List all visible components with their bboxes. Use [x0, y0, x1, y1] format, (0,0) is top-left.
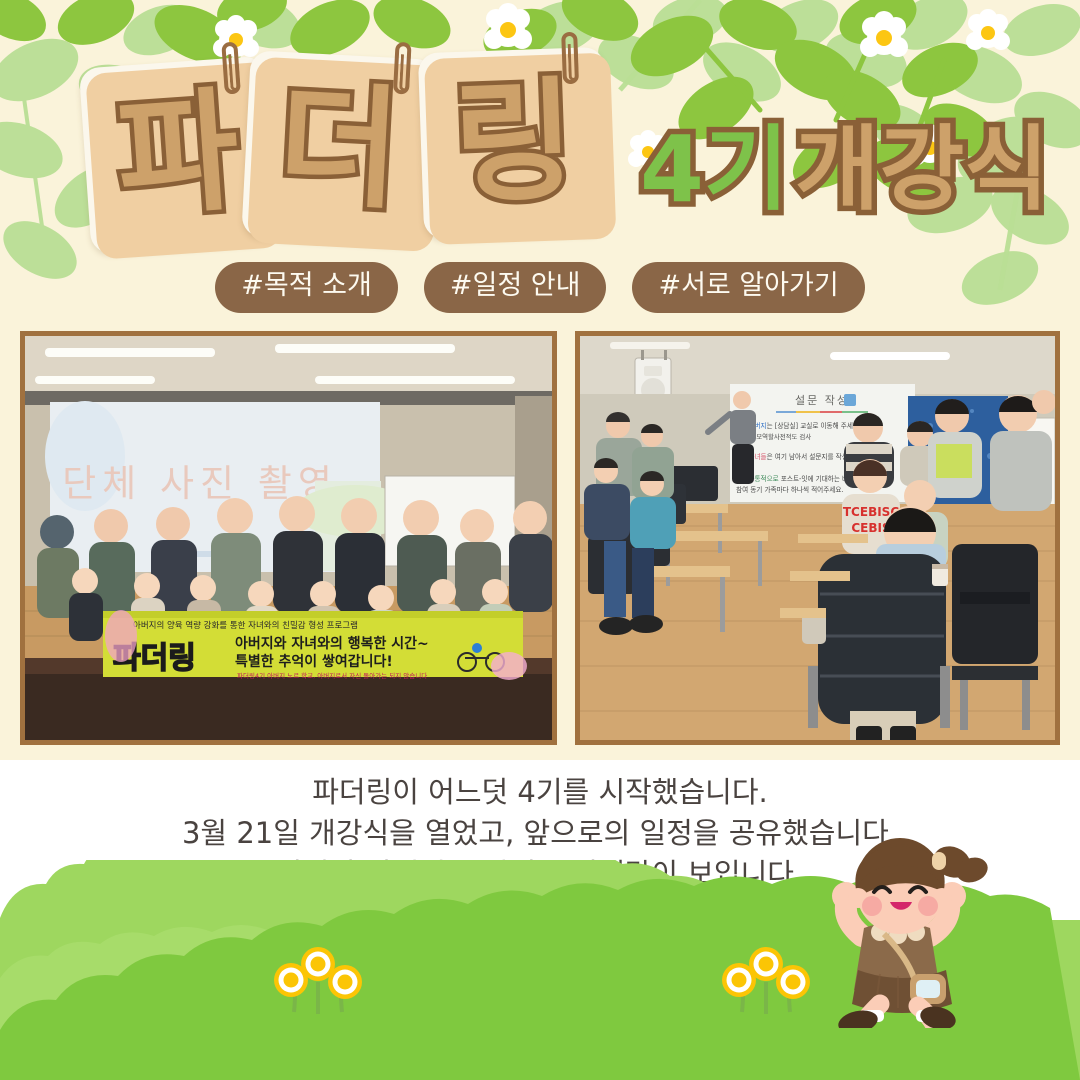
svg-text:1. 아버지는 [상담실] 교실로 이동해 주세요.: 1. 아버지는 [상담실] 교실로 이동해 주세요. — [740, 421, 861, 430]
svg-text:특별한 추억이 쌓여갑니다!: 특별한 추억이 쌓여갑니다! — [235, 653, 393, 670]
svg-text:파더링4기 아버지 노르 학교, 아버지로서 자신 돌아가는: 파더링4기 아버지 노르 학교, 아버지로서 자신 돌아가는 되지 않습니다 — [237, 671, 427, 680]
photo-group-ceremony[interactable]: 단체 사진 촬영 - 강당에서 현수막 앞 단체사진 단체 사진 촬영 — [20, 331, 557, 745]
hashtag-row: #목적 소개 #일정 안내 #서로 알아가기 — [0, 262, 1080, 313]
hashtag-pill-purpose[interactable]: #목적 소개 — [215, 262, 398, 313]
svg-text:참여 동기 가족마다 하나씩 적어주세요.: 참여 동기 가족마다 하나씩 적어주세요. — [736, 485, 844, 494]
svg-text:3. 공통적으로 포스트-잇에 기대하는 바나: 3. 공통적으로 포스트-잇에 기대하는 바나 — [740, 474, 854, 483]
cheering-girl-mascot — [806, 828, 996, 1028]
svg-text:아버지와 자녀와의 행복한 시간~: 아버지와 자녀와의 행복한 시간~ — [235, 635, 429, 652]
svg-text:설문 작성: 설문 작성 — [795, 394, 849, 407]
poster-canvas: 파 더 링 4기 개강식 #목적 소개 #일정 안내 #서로 알아가기 단체 사… — [0, 0, 1080, 1080]
title-event: 개강식 — [795, 124, 1049, 216]
title-card-deo: 더 — [241, 50, 436, 245]
hashtag-pill-getting-to-know[interactable]: #서로 알아가기 — [632, 262, 864, 313]
photo-classroom-survey[interactable]: 강의실에서 설문 작성 안내를 듣는 참가자들 설문 작성 — [575, 331, 1060, 745]
title-glyph-pa: 파 — [113, 85, 243, 225]
svg-text:아버지의 양육 역량 강화를 통한 자녀와의 친밀감 형성: 아버지의 양육 역량 강화를 통한 자녀와의 친밀감 형성 프로그램 — [133, 620, 358, 631]
caption-line-1: 파더링이 어느덧 4기를 시작했습니다. — [0, 772, 1080, 813]
hashtag-pill-schedule[interactable]: #일정 안내 — [424, 262, 607, 313]
paperclip-icon — [393, 42, 412, 95]
title-card-ring: 링 — [418, 47, 610, 239]
title-glyph-deo: 더 — [275, 79, 403, 217]
title-season: 4기 — [640, 124, 789, 216]
title-glyph-ring: 링 — [451, 75, 577, 211]
paperclip-icon — [561, 32, 579, 85]
running-boy-mascot — [118, 838, 298, 1028]
